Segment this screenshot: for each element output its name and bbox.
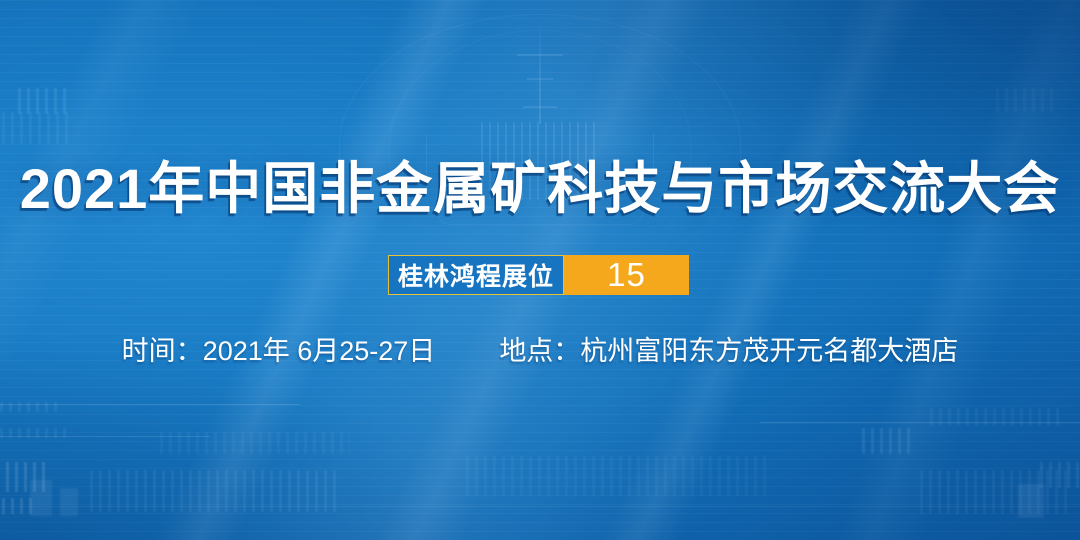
badge-booth-number: 15 xyxy=(564,255,689,295)
booth-badge: 桂林鸿程展位 15 xyxy=(388,255,689,295)
event-info-row: 时间：2021年 6月25-27日 地点：杭州富阳东方茂开元名都大酒店 xyxy=(0,332,1080,370)
badge-company-label: 桂林鸿程展位 xyxy=(388,255,564,295)
event-location: 地点：杭州富阳东方茂开元名都大酒店 xyxy=(499,332,958,370)
event-time: 时间：2021年 6月25-27日 xyxy=(122,332,436,370)
conference-banner: 2021年中国非金属矿科技与市场交流大会 桂林鸿程展位 15 时间：2021年 … xyxy=(0,0,1080,540)
page-title: 2021年中国非金属矿科技与市场交流大会 xyxy=(0,158,1080,220)
